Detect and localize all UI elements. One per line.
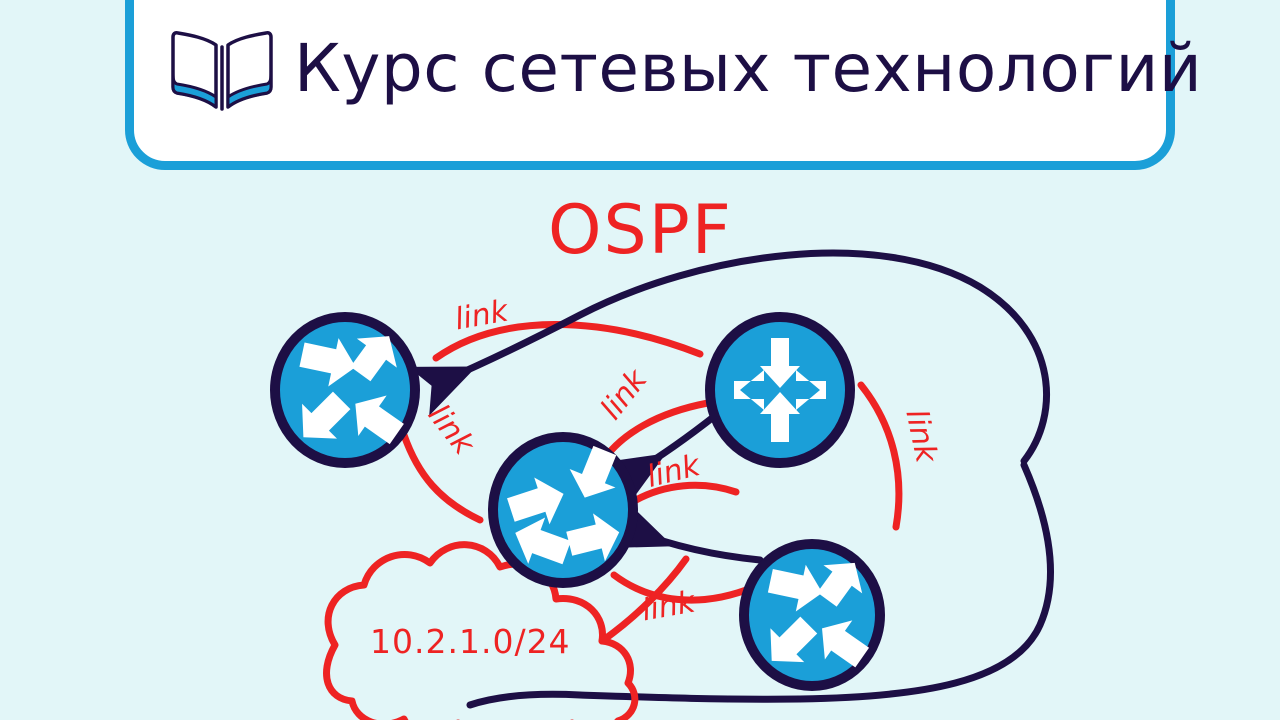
- router-bottom-right[interactable]: [744, 544, 880, 686]
- ospf-network-diagram: OSPF link link link link link link 10.2.…: [0, 175, 1280, 720]
- ospf-title: OSPF: [548, 197, 733, 265]
- header-content: Курс сетевых технологий: [134, 9, 1166, 129]
- link-label-1: link: [453, 297, 510, 336]
- header-card: Курс сетевых технологий: [125, 0, 1175, 170]
- router-top-left[interactable]: [275, 317, 415, 463]
- link-curve-5: [861, 385, 899, 527]
- page-title: Курс сетевых технологий: [294, 36, 1202, 102]
- router-top-right[interactable]: [710, 317, 850, 463]
- flow-path-bottomright-center: [634, 531, 760, 560]
- link-label-6: link: [640, 588, 697, 627]
- slide-canvas: Курс сетевых технологий: [0, 0, 1280, 720]
- router-center[interactable]: [493, 437, 633, 583]
- open-book-icon: [166, 23, 278, 115]
- subnet-label: 10.2.1.0/24: [370, 625, 571, 658]
